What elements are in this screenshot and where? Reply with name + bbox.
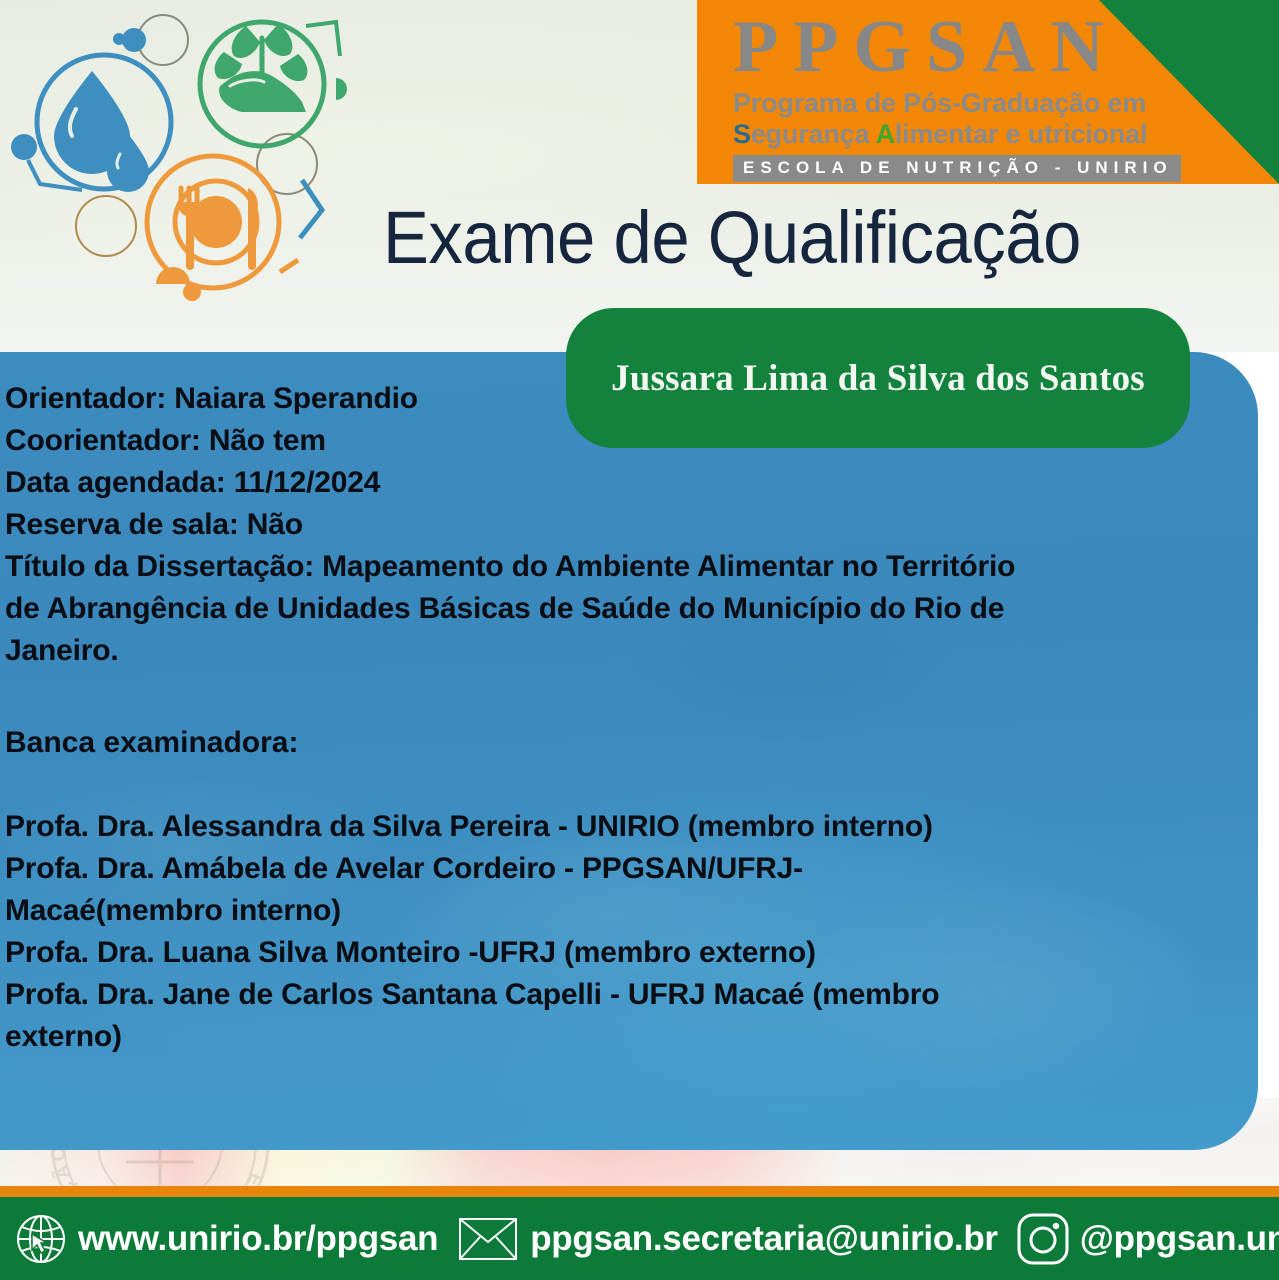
instagram-handle[interactable]: @ppgsan.unirio — [1080, 1219, 1279, 1259]
ppgsan-brand-block: PPGSAN Programa de Pós-Graduação em Segu… — [697, 0, 1279, 184]
banca-member: Profa. Dra. Alessandra da Silva Pereira … — [5, 806, 1005, 848]
envelope-icon — [458, 1216, 518, 1262]
brand-school-subtitle: ESCOLA DE NUTRIÇÃO - UNIRIO — [733, 155, 1181, 182]
orange-accent-bar — [0, 1186, 1279, 1197]
info-titulo-dissertacao: Título da Dissertação: Mapeamento do Amb… — [5, 546, 1035, 672]
footer-email-group[interactable]: ppgsan.secretaria@unirio.br — [458, 1197, 998, 1280]
instagram-icon — [1016, 1212, 1070, 1266]
info-orientador: Orientador: Naiara Sperandio — [5, 378, 1035, 420]
info-data-agendada: Data agendada: 11/12/2024 — [5, 462, 1035, 504]
brand-seguranca-text: egurança — [751, 119, 876, 149]
footer-instagram-group[interactable]: @ppgsan.unirio — [1016, 1197, 1279, 1280]
info-reserva-sala: Reserva de sala: Não — [5, 504, 1035, 546]
brand-program-line: Programa de Pós-Graduação em — [733, 88, 1133, 118]
exam-info-block: Orientador: Naiara Sperandio Coorientado… — [5, 378, 1035, 672]
brand-text-group: PPGSAN Programa de Pós-Graduação em Segu… — [733, 6, 1133, 182]
brand-segname-line: Segurança Alimentar e utricional — [733, 118, 1133, 150]
page-title: Exame de Qualificação — [383, 196, 1201, 280]
banca-member: Profa. Dra. Jane de Carlos Santana Capel… — [5, 974, 1005, 1058]
banca-member: Profa. Dra. Luana Silva Monteiro -UFRJ (… — [5, 932, 1005, 974]
brand-alimentar-text: limentar e utricional — [895, 119, 1147, 149]
brand-acronym: PPGSAN — [733, 6, 1133, 88]
poster-root: PPGSAN Programa de Pós-Graduação em Segu… — [0, 0, 1279, 1280]
banca-member: Profa. Dra. Amábela de Avelar Cordeiro -… — [5, 848, 1005, 932]
footer-website-group[interactable]: www.unirio.br/ppgsan — [14, 1197, 438, 1280]
website-url[interactable]: www.unirio.br/ppgsan — [78, 1219, 438, 1259]
email-address[interactable]: ppgsan.secretaria@unirio.br — [530, 1219, 998, 1259]
brand-s-letter: S — [733, 119, 751, 149]
banca-heading: Banca examinadora: — [5, 722, 298, 764]
footer-bar: www.unirio.br/ppgsan ppgsan.secretaria@u… — [0, 1197, 1279, 1280]
info-coorientador: Coorientador: Não tem — [5, 420, 1035, 462]
banca-members-list: Profa. Dra. Alessandra da Silva Pereira … — [5, 806, 1005, 1058]
globe-icon — [14, 1212, 68, 1266]
ppgsan-logo-art — [6, 4, 386, 324]
brand-a-letter: A — [876, 119, 895, 149]
